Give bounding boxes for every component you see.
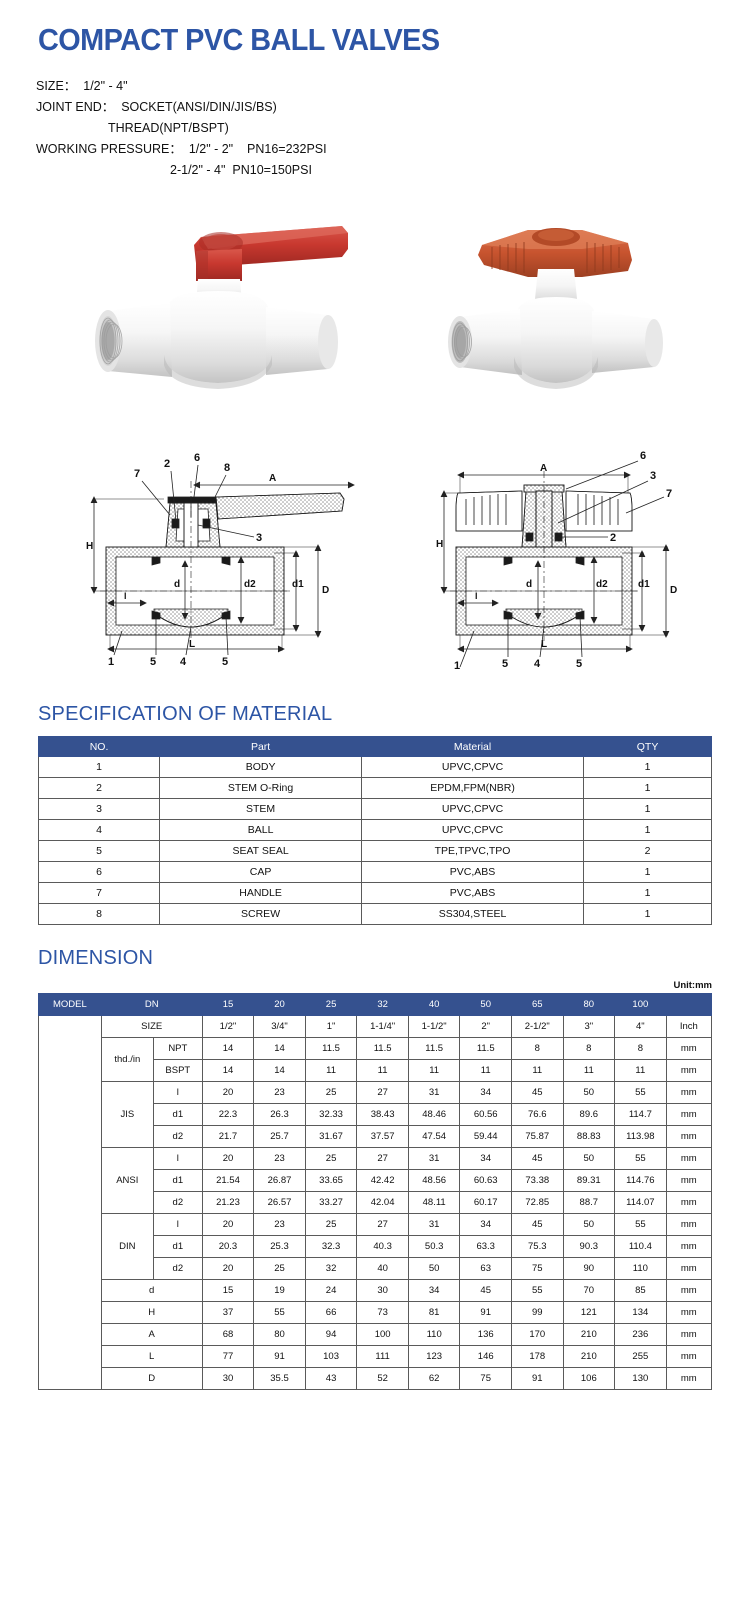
dimension-cell: 55 (615, 1082, 667, 1104)
dimension-table-row: L7791103111123146178210255mm (39, 1346, 712, 1368)
dimension-row-label: A (101, 1324, 202, 1346)
material-table-row: 5SEAT SEALTPE,TPVC,TPO2 (39, 841, 712, 862)
dimension-cell: 62 (408, 1368, 460, 1390)
spec-summary: SIZE： 1/2" - 4" JOINT END： SOCKET(ANSI/D… (36, 76, 750, 181)
svg-text:d2: d2 (244, 579, 256, 590)
dimension-cell: 121 (563, 1302, 615, 1324)
svg-text:L: L (189, 639, 195, 650)
dimension-cell: 75 (511, 1258, 563, 1280)
material-cell-qty: 1 (584, 883, 712, 904)
dimension-cell: 45 (511, 1148, 563, 1170)
dimension-cell: 68 (202, 1324, 254, 1346)
dimension-subrow-label: NPT (153, 1038, 202, 1060)
dimension-table-row: D3035.54352627591106130mm (39, 1368, 712, 1390)
dimension-cell: 34 (460, 1148, 512, 1170)
dimension-cell: 60.56 (460, 1104, 512, 1126)
dimension-cell: 88.83 (563, 1126, 615, 1148)
dimension-cell: 27 (357, 1082, 409, 1104)
svg-text:5: 5 (502, 658, 508, 670)
dimension-subrow-label: d1 (153, 1236, 202, 1258)
dimension-dn-25: 25 (305, 994, 357, 1016)
dimension-table-row: d151924303445557085mm (39, 1280, 712, 1302)
svg-text:2: 2 (164, 458, 170, 470)
dimension-cell: 63 (460, 1258, 512, 1280)
dimension-cell: 34 (460, 1214, 512, 1236)
dimension-unit-cell: mm (666, 1192, 711, 1214)
material-cell-material: UPVC,CPVC (362, 820, 584, 841)
dimension-cell: 26.57 (254, 1192, 306, 1214)
dimension-cell: 114.76 (615, 1170, 667, 1192)
dimension-cell: 25 (305, 1148, 357, 1170)
svg-text:6: 6 (194, 452, 200, 464)
page-title: COMPACT PVC BALL VALVES (38, 22, 700, 58)
dimension-cell: 89.6 (563, 1104, 615, 1126)
dimension-cell: 73 (357, 1302, 409, 1324)
dimension-cell: 103 (305, 1346, 357, 1368)
dimension-table-row: thd./inNPT141411.511.511.511.5888mm (39, 1038, 712, 1060)
spec-line-joint-end: JOINT END： SOCKET(ANSI/DIN/JIS/BS) (36, 97, 750, 118)
dimension-col-dn: DN (101, 994, 202, 1016)
material-cell-no: 1 (39, 757, 160, 778)
dimension-table-header-row: MODEL DN 15 20 25 32 40 50 65 80 100 (39, 994, 712, 1016)
dimension-unit-cell: mm (666, 1104, 711, 1126)
dimension-subrow-label: d2 (153, 1126, 202, 1148)
dimension-cell: 48.46 (408, 1104, 460, 1126)
material-table-row: 7HANDLEPVC,ABS1 (39, 883, 712, 904)
material-table-row: 6CAPPVC,ABS1 (39, 862, 712, 883)
dimension-cell: 110.4 (615, 1236, 667, 1258)
dimension-dn-80: 80 (563, 994, 615, 1016)
dimension-cell: 146 (460, 1346, 512, 1368)
dimension-cell: 20 (202, 1214, 254, 1236)
material-cell-no: 3 (39, 799, 160, 820)
dimension-cell: 48.56 (408, 1170, 460, 1192)
dimension-cell: 40 (357, 1258, 409, 1280)
dimension-cell: 31 (408, 1148, 460, 1170)
dimension-col-model: MODEL (39, 994, 102, 1016)
dimension-table: MODEL DN 15 20 25 32 40 50 65 80 100 SIZ… (38, 993, 712, 1390)
dimension-cell: 20 (202, 1148, 254, 1170)
material-table-row: 8SCREWSS304,STEEL1 (39, 904, 712, 925)
dimension-dn-50: 50 (460, 994, 512, 1016)
dimension-cell: 32.3 (305, 1236, 357, 1258)
svg-text:5: 5 (222, 656, 228, 668)
material-table-header-row: NO. Part Material QTY (39, 737, 712, 757)
dimension-cell: 37.57 (357, 1126, 409, 1148)
dimension-cell: 14 (254, 1038, 306, 1060)
dimension-group-thdin: thd./in (101, 1038, 153, 1082)
dimension-cell: 47.54 (408, 1126, 460, 1148)
dimension-subrow-label: d1 (153, 1170, 202, 1192)
dimension-cell: 72.85 (511, 1192, 563, 1214)
dimension-cell: 73.38 (511, 1170, 563, 1192)
dimension-cell: 22.3 (202, 1104, 254, 1126)
dimension-cell: 25 (254, 1258, 306, 1280)
dimension-cell: 21.7 (202, 1126, 254, 1148)
dimension-table-row: SIZE1/2"3/4"1"1-1/4"1-1/2"2"2-1/2"3"4"In… (39, 1016, 712, 1038)
dimension-cell: 75 (460, 1368, 512, 1390)
dimension-cell: 38.43 (357, 1104, 409, 1126)
material-cell-material: UPVC,CPVC (362, 799, 584, 820)
dimension-subrow-label: d1 (153, 1104, 202, 1126)
dimension-cell: 59.44 (460, 1126, 512, 1148)
lever-handle-ball-valve-photo (90, 205, 380, 430)
svg-text:7: 7 (134, 468, 140, 480)
spec-line-working-pressure: WORKING PRESSURE： 1/2" - 2" PN16=232PSI (36, 139, 750, 160)
svg-text:d2: d2 (596, 579, 608, 590)
dimension-cell: 210 (563, 1324, 615, 1346)
dimension-subrow-label: d2 (153, 1192, 202, 1214)
dimension-cell: 26.87 (254, 1170, 306, 1192)
dimension-unit-cell: mm (666, 1060, 711, 1082)
dimension-cell: 11.5 (460, 1038, 512, 1060)
dimension-cell: 23 (254, 1148, 306, 1170)
dimension-cell: 91 (460, 1302, 512, 1324)
svg-text:1: 1 (454, 660, 460, 671)
dimension-cell: 23 (254, 1082, 306, 1104)
dimension-cell: 34 (460, 1082, 512, 1104)
material-cell-part: SEAT SEAL (160, 841, 362, 862)
dimension-cell: 21.23 (202, 1192, 254, 1214)
dimension-cell: 178 (511, 1346, 563, 1368)
dimension-cell: 136 (460, 1324, 512, 1346)
dimension-cell: 45 (460, 1280, 512, 1302)
dimension-subrow-label: l (153, 1214, 202, 1236)
dimension-cell: 11 (357, 1060, 409, 1082)
material-col-qty: QTY (584, 737, 712, 757)
dimension-cell: 236 (615, 1324, 667, 1346)
material-table-row: 2STEM O-RingEPDM,FPM(NBR)1 (39, 778, 712, 799)
material-cell-material: EPDM,FPM(NBR) (362, 778, 584, 799)
svg-text:d: d (526, 579, 532, 590)
dimension-cell: 110 (408, 1324, 460, 1346)
dimension-cell: 134 (615, 1302, 667, 1324)
dimension-cell: 43 (305, 1368, 357, 1390)
dimension-cell: 23 (254, 1214, 306, 1236)
dimension-model-cell (39, 1016, 102, 1390)
dimension-cell: 32 (305, 1258, 357, 1280)
dimension-row-label: D (101, 1368, 202, 1390)
material-cell-qty: 2 (584, 841, 712, 862)
dimension-cell: 255 (615, 1346, 667, 1368)
dimension-cell: 80 (254, 1324, 306, 1346)
dimension-cell: 3/4" (254, 1016, 306, 1038)
dimension-cell: 94 (305, 1324, 357, 1346)
dimension-cell: 52 (357, 1368, 409, 1390)
dimension-cell: 130 (615, 1368, 667, 1390)
dimension-cell: 76.6 (511, 1104, 563, 1126)
dimension-unit-cell: mm (666, 1148, 711, 1170)
dimension-dn-65: 65 (511, 994, 563, 1016)
dimension-cell: 114.07 (615, 1192, 667, 1214)
dimension-cell: 4" (615, 1016, 667, 1038)
dimension-unit-cell: mm (666, 1082, 711, 1104)
dimension-cell: 26.3 (254, 1104, 306, 1126)
unit-note: Unit:mm (38, 980, 712, 991)
technical-drawings: H A l L (0, 441, 750, 681)
dimension-cell: 2" (460, 1016, 512, 1038)
material-cell-no: 7 (39, 883, 160, 904)
dimension-cell: 42.42 (357, 1170, 409, 1192)
material-table: NO. Part Material QTY 1BODYUPVC,CPVC12ST… (38, 736, 712, 925)
dimension-cell: 88.7 (563, 1192, 615, 1214)
dimension-cell: 99 (511, 1302, 563, 1324)
svg-text:5: 5 (576, 658, 582, 670)
svg-text:D: D (322, 585, 329, 596)
dimension-cell: 45 (511, 1214, 563, 1236)
dimension-cell: 50 (563, 1148, 615, 1170)
material-col-part: Part (160, 737, 362, 757)
dimension-unit-header (666, 994, 711, 1016)
product-photos (0, 197, 750, 437)
dimension-cell: 55 (615, 1148, 667, 1170)
material-col-no: NO. (39, 737, 160, 757)
dimension-unit-cell: mm (666, 1214, 711, 1236)
material-table-row: 1BODYUPVC,CPVC1 (39, 757, 712, 778)
dimension-cell: 33.65 (305, 1170, 357, 1192)
dimension-cell: 90.3 (563, 1236, 615, 1258)
spec-line-thread: THREAD(NPT/BSPT) (36, 118, 750, 139)
dimension-cell: 70 (563, 1280, 615, 1302)
dimension-cell: 123 (408, 1346, 460, 1368)
dimension-cell: 11.5 (305, 1038, 357, 1060)
material-cell-part: BALL (160, 820, 362, 841)
dimension-cell: 11.5 (408, 1038, 460, 1060)
material-cell-part: STEM (160, 799, 362, 820)
dimension-unit-cell: mm (666, 1346, 711, 1368)
dimension-cell: 89.31 (563, 1170, 615, 1192)
dimension-cell: 11 (563, 1060, 615, 1082)
dimension-cell: 1-1/4" (357, 1016, 409, 1038)
dimension-cell: 40.3 (357, 1236, 409, 1258)
svg-text:l: l (124, 591, 127, 601)
material-cell-qty: 1 (584, 757, 712, 778)
dimension-unit-cell: mm (666, 1038, 711, 1060)
dimension-cell: 30 (357, 1280, 409, 1302)
dimension-table-row: JISl202325273134455055mm (39, 1082, 712, 1104)
dimension-subrow-label: l (153, 1148, 202, 1170)
dimension-cell: 55 (254, 1302, 306, 1324)
dimension-cell: 34 (408, 1280, 460, 1302)
dimension-cell: 50 (408, 1258, 460, 1280)
dimension-cell: 19 (254, 1280, 306, 1302)
dimension-group-din: DIN (101, 1214, 153, 1280)
svg-text:H: H (86, 541, 93, 552)
dimension-cell: 210 (563, 1346, 615, 1368)
dimension-cell: 20 (202, 1082, 254, 1104)
dimension-cell: 14 (202, 1060, 254, 1082)
dimension-unit-cell: mm (666, 1280, 711, 1302)
dimension-group-ansi: ANSI (101, 1148, 153, 1214)
dimension-unit-cell: mm (666, 1324, 711, 1346)
material-cell-material: PVC,ABS (362, 862, 584, 883)
dimension-cell: 60.63 (460, 1170, 512, 1192)
material-cell-qty: 1 (584, 778, 712, 799)
svg-text:D: D (670, 585, 677, 596)
dimension-cell: 11 (615, 1060, 667, 1082)
material-cell-no: 5 (39, 841, 160, 862)
material-cell-qty: 1 (584, 862, 712, 883)
dimension-table-row: ANSIl202325273134455055mm (39, 1148, 712, 1170)
dimension-cell: 3" (563, 1016, 615, 1038)
dimension-cell: 66 (305, 1302, 357, 1324)
dimension-dn-40: 40 (408, 994, 460, 1016)
svg-text:2: 2 (610, 532, 616, 544)
dimension-cell: 25.3 (254, 1236, 306, 1258)
dimension-cell: 14 (202, 1038, 254, 1060)
dimension-cell: 8 (615, 1038, 667, 1060)
dimension-cell: 85 (615, 1280, 667, 1302)
material-cell-qty: 1 (584, 799, 712, 820)
dimension-unit-cell: mm (666, 1368, 711, 1390)
dimension-cell: 75.87 (511, 1126, 563, 1148)
svg-text:1: 1 (108, 656, 114, 668)
dimension-cell: 27 (357, 1214, 409, 1236)
svg-text:3: 3 (256, 532, 262, 544)
spec-line-working-pressure-2: 2-1/2" - 4" PN10=150PSI (36, 160, 750, 181)
material-table-row: 3STEMUPVC,CPVC1 (39, 799, 712, 820)
dimension-cell: 31 (408, 1214, 460, 1236)
dimension-cell: 25 (305, 1214, 357, 1236)
dimension-cell: 77 (202, 1346, 254, 1368)
dimension-cell: 50 (563, 1214, 615, 1236)
material-cell-no: 6 (39, 862, 160, 883)
svg-text:3: 3 (650, 470, 656, 482)
dimension-row-label: H (101, 1302, 202, 1324)
dimension-cell: 50.3 (408, 1236, 460, 1258)
dimension-cell: 55 (511, 1280, 563, 1302)
dimension-cell: 33.27 (305, 1192, 357, 1214)
dimension-cell: 111 (357, 1346, 409, 1368)
svg-text:6: 6 (640, 450, 646, 462)
svg-text:4: 4 (534, 658, 541, 670)
lever-valve-cross-section: H A l L (86, 441, 376, 676)
dimension-cell: 37 (202, 1302, 254, 1324)
dimension-cell: 100 (357, 1324, 409, 1346)
dimension-group-jis: JIS (101, 1082, 153, 1148)
tee-handle-ball-valve-photo (432, 205, 682, 430)
material-cell-no: 4 (39, 820, 160, 841)
dimension-cell: 11 (305, 1060, 357, 1082)
dimension-cell: 21.54 (202, 1170, 254, 1192)
dimension-cell: 30 (202, 1368, 254, 1390)
dimension-cell: 48.11 (408, 1192, 460, 1214)
dimension-cell: 110 (615, 1258, 667, 1280)
dimension-cell: 81 (408, 1302, 460, 1324)
dimension-cell: 11 (460, 1060, 512, 1082)
dimension-cell: 8 (563, 1038, 615, 1060)
dimension-dn-20: 20 (254, 994, 306, 1016)
dimension-section-title: DIMENSION (38, 947, 750, 970)
dimension-table-row: DINl202325273134455055mm (39, 1214, 712, 1236)
dimension-cell: 113.98 (615, 1126, 667, 1148)
material-cell-material: UPVC,CPVC (362, 757, 584, 778)
dimension-row-label: SIZE (101, 1016, 202, 1038)
dimension-unit-cell: mm (666, 1236, 711, 1258)
material-cell-part: CAP (160, 862, 362, 883)
dimension-unit-cell: mm (666, 1302, 711, 1324)
dimension-cell: 55 (615, 1214, 667, 1236)
dimension-cell: 35.5 (254, 1368, 306, 1390)
material-cell-no: 2 (39, 778, 160, 799)
dimension-unit-cell: mm (666, 1126, 711, 1148)
dimension-cell: 114.7 (615, 1104, 667, 1126)
dimension-cell: 50 (563, 1082, 615, 1104)
material-col-material: Material (362, 737, 584, 757)
dimension-cell: 1" (305, 1016, 357, 1038)
dimension-cell: 24 (305, 1280, 357, 1302)
dimension-cell: 25 (305, 1082, 357, 1104)
dimension-table-row: A688094100110136170210236mm (39, 1324, 712, 1346)
svg-text:7: 7 (666, 488, 672, 500)
dimension-table-row: H37556673819199121134mm (39, 1302, 712, 1324)
dimension-cell: 11.5 (357, 1038, 409, 1060)
svg-text:5: 5 (150, 656, 156, 668)
dimension-cell: 91 (511, 1368, 563, 1390)
dimension-cell: 75.3 (511, 1236, 563, 1258)
svg-text:d1: d1 (638, 579, 650, 590)
dimension-row-label: d (101, 1280, 202, 1302)
svg-text:d1: d1 (292, 579, 304, 590)
dimension-cell: 20 (202, 1258, 254, 1280)
dimension-cell: 170 (511, 1324, 563, 1346)
material-cell-part: BODY (160, 757, 362, 778)
dimension-cell: 27 (357, 1148, 409, 1170)
material-cell-qty: 1 (584, 904, 712, 925)
dimension-cell: 15 (202, 1280, 254, 1302)
svg-text:l: l (475, 591, 478, 601)
material-cell-material: TPE,TPVC,TPO (362, 841, 584, 862)
material-cell-part: STEM O-Ring (160, 778, 362, 799)
material-cell-qty: 1 (584, 820, 712, 841)
svg-text:A: A (269, 473, 276, 484)
dimension-dn-32: 32 (357, 994, 409, 1016)
dimension-cell: 20.3 (202, 1236, 254, 1258)
material-table-row: 4BALLUPVC,CPVC1 (39, 820, 712, 841)
dimension-cell: 91 (254, 1346, 306, 1368)
dimension-cell: 2-1/2" (511, 1016, 563, 1038)
dimension-cell: 14 (254, 1060, 306, 1082)
dimension-subrow-label: l (153, 1082, 202, 1104)
dimension-cell: 11 (511, 1060, 563, 1082)
material-section-title: SPECIFICATION OF MATERIAL (38, 703, 750, 726)
dimension-cell: 106 (563, 1368, 615, 1390)
material-cell-part: HANDLE (160, 883, 362, 904)
dimension-cell: 31.67 (305, 1126, 357, 1148)
dimension-cell: 11 (408, 1060, 460, 1082)
svg-text:H: H (436, 539, 443, 550)
dimension-cell: 8 (511, 1038, 563, 1060)
dimension-cell: 63.3 (460, 1236, 512, 1258)
svg-text:4: 4 (180, 656, 187, 668)
material-cell-material: SS304,STEEL (362, 904, 584, 925)
dimension-dn-100: 100 (615, 994, 667, 1016)
dimension-unit-cell: Inch (666, 1016, 711, 1038)
dimension-subrow-label: d2 (153, 1258, 202, 1280)
dimension-cell: 31 (408, 1082, 460, 1104)
dimension-cell: 25.7 (254, 1126, 306, 1148)
dimension-subrow-label: BSPT (153, 1060, 202, 1082)
svg-text:d: d (174, 579, 180, 590)
dimension-cell: 1-1/2" (408, 1016, 460, 1038)
svg-text:A: A (540, 463, 547, 474)
spec-line-size: SIZE： 1/2" - 4" (36, 76, 750, 97)
material-cell-part: SCREW (160, 904, 362, 925)
dimension-cell: 42.04 (357, 1192, 409, 1214)
dimension-cell: 90 (563, 1258, 615, 1280)
dimension-cell: 60.17 (460, 1192, 512, 1214)
material-cell-material: PVC,ABS (362, 883, 584, 904)
